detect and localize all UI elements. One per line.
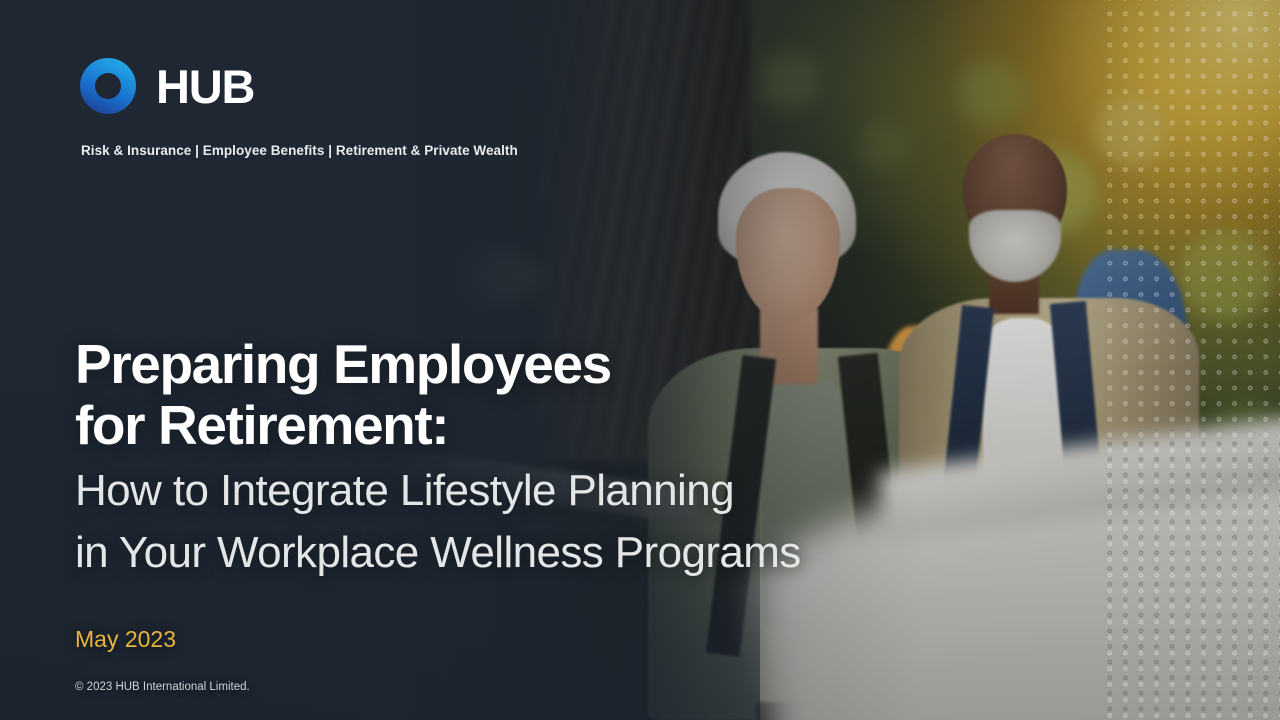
headline-block: Preparing Employees for Retirement: How … [75,334,1035,580]
copyright-notice: © 2023 HUB International Limited. [75,681,250,693]
hub-wordmark: HUB [156,63,254,110]
title-line-1: Preparing Employees [75,334,1035,395]
ring-dot-grid-overlay-dark [1098,430,1280,720]
hub-ring-logo-icon [80,58,136,114]
title-slide: HUB Risk & Insurance | Employee Benefits… [0,0,1280,720]
brand-lockup: HUB [80,58,254,114]
presentation-date: May 2023 [75,626,176,653]
subtitle-line-2: in Your Workplace Wellness Programs [75,526,1035,580]
brand-tagline: Risk & Insurance | Employee Benefits | R… [81,143,518,158]
title-line-2: for Retirement: [75,395,1035,456]
subtitle-line-1: How to Integrate Lifestyle Planning [75,464,1035,518]
